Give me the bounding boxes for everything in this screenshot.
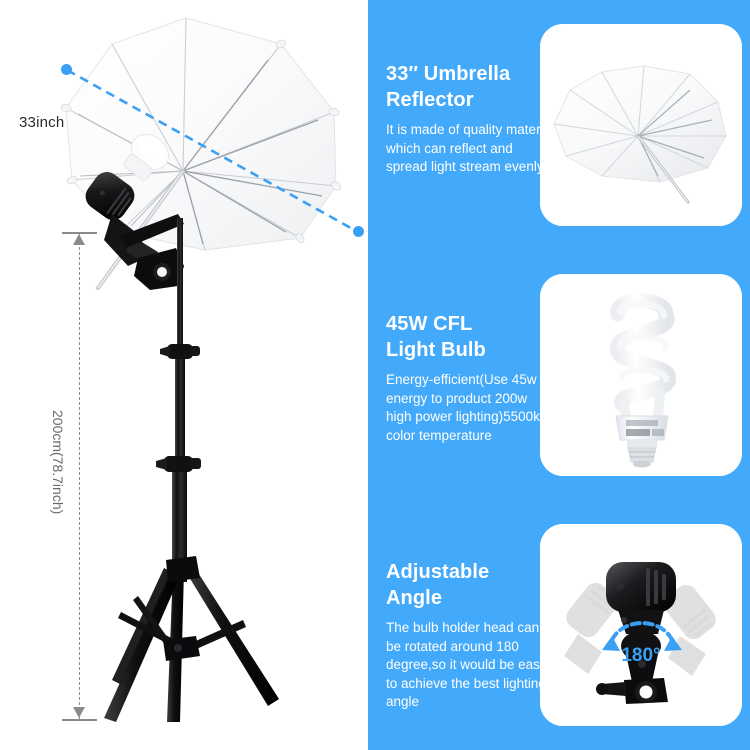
- feature-title: 33″ Umbrella Reflector: [386, 62, 556, 113]
- product-infographic: 33inch 200cm(78.7inch) 33″ Umbrella Refl…: [0, 0, 750, 750]
- feature-title-line2: Light Bulb: [386, 339, 486, 361]
- feature-description: It is made of quality material which can…: [386, 121, 556, 176]
- diagonal-endpoint-dot-right: [353, 226, 364, 237]
- feature-panel: 33″ Umbrella Reflector It is made of qua…: [368, 0, 750, 750]
- feature-adjustable-angle: Adjustable Angle The bulb holder head ca…: [386, 560, 556, 712]
- spiral-cfl-bulb-photo: [540, 274, 742, 476]
- feature-description: The bulb holder head can be rotated arou…: [386, 619, 556, 711]
- product-photo-area: 33inch 200cm(78.7inch): [0, 0, 368, 750]
- feature-title-line2: Reflector: [386, 89, 474, 111]
- rotating-bulb-holder-photo: 180°: [540, 524, 742, 726]
- feature-cfl-light-bulb: 45W CFL Light Bulb Energy-efficient(Use …: [386, 312, 556, 445]
- feature-title-line1: 45W CFL: [386, 313, 472, 335]
- feature-title: Adjustable Angle: [386, 560, 556, 611]
- feature-title-line2: Angle: [386, 587, 442, 609]
- feature-title-line1: Adjustable: [386, 561, 489, 583]
- locking-collar: [160, 344, 200, 359]
- feature-image-card-umbrella: [540, 24, 742, 226]
- feature-title: 45W CFL Light Bulb: [386, 312, 556, 363]
- feature-image-card-holder: 180°: [540, 524, 742, 726]
- feature-description: Energy-efficient(Use 45w energy to produ…: [386, 371, 556, 445]
- tripod-legs: [104, 556, 279, 722]
- feature-umbrella-reflector: 33″ Umbrella Reflector It is made of qua…: [386, 62, 556, 177]
- height-dimension-arrow-down: [73, 707, 85, 718]
- diagonal-endpoint-dot-left: [61, 64, 72, 75]
- height-dimension-arrow-up: [73, 234, 85, 245]
- rotation-degree-label: 180°: [621, 645, 660, 666]
- feature-title-line1: 33″ Umbrella: [386, 63, 510, 85]
- umbrella-canopy: [60, 18, 342, 288]
- white-translucent-umbrella-photo: [540, 24, 742, 226]
- locking-collar: [156, 456, 201, 472]
- height-dimension-bottom-cap: [62, 719, 97, 721]
- umbrella-light-stand-illustration: [0, 0, 368, 750]
- stand-height-label: 200cm(78.7inch): [50, 410, 66, 514]
- umbrella-diameter-label: 33inch: [19, 114, 64, 131]
- height-dimension-line: [79, 232, 80, 720]
- feature-image-card-bulb: [540, 274, 742, 476]
